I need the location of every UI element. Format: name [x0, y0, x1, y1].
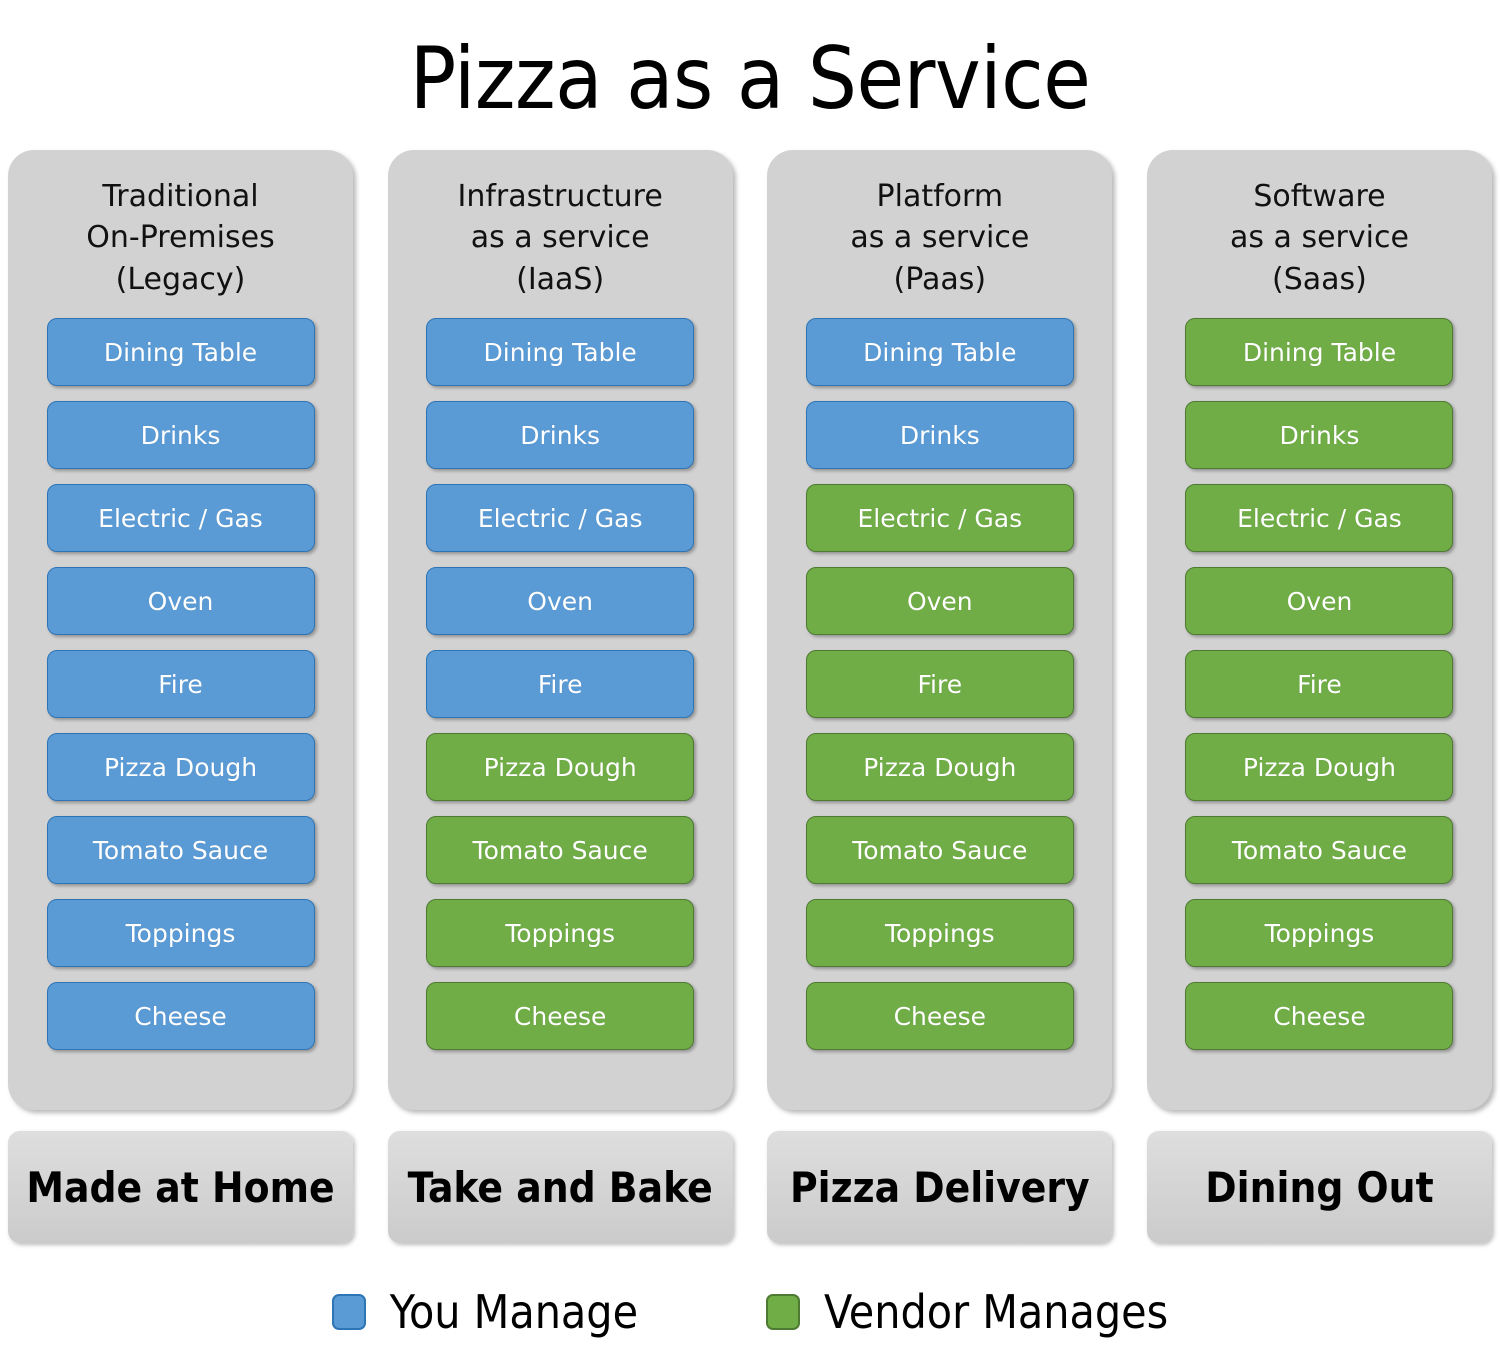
layer-pill[interactable]: Cheese — [806, 982, 1074, 1050]
layer-pill[interactable]: Fire — [47, 650, 315, 718]
legend-item-vendor: Vendor Manages — [766, 1285, 1168, 1339]
legend-item-you: You Manage — [332, 1285, 638, 1339]
layer-pill[interactable]: Drinks — [47, 401, 315, 469]
layer-pill[interactable]: Pizza Dough — [426, 733, 694, 801]
layer-pill[interactable]: Oven — [806, 567, 1074, 635]
layer-pill[interactable]: Toppings — [1185, 899, 1453, 967]
column-header: Platformas a service(Paas) — [767, 176, 1112, 316]
layer-pill[interactable]: Oven — [47, 567, 315, 635]
layer-pill[interactable]: Electric / Gas — [806, 484, 1074, 552]
layer-pill[interactable]: Oven — [1185, 567, 1453, 635]
service-column-1: TraditionalOn-Premises(Legacy)Dining Tab… — [8, 150, 353, 1110]
footer-analogy-4: Dining Out — [1147, 1131, 1492, 1243]
layer-pill[interactable]: Oven — [426, 567, 694, 635]
layer-pill[interactable]: Tomato Sauce — [47, 816, 315, 884]
layer-pill[interactable]: Dining Table — [806, 318, 1074, 386]
layer-pill[interactable]: Dining Table — [1185, 318, 1453, 386]
service-column-3: Platformas a service(Paas)Dining TableDr… — [767, 150, 1112, 1110]
layer-pill[interactable]: Dining Table — [426, 318, 694, 386]
column-header: TraditionalOn-Premises(Legacy) — [8, 176, 353, 316]
layer-stack: Dining TableDrinksElectric / GasOvenFire… — [47, 318, 315, 1050]
layer-pill[interactable]: Electric / Gas — [47, 484, 315, 552]
layer-stack: Dining TableDrinksElectric / GasOvenFire… — [806, 318, 1074, 1050]
layer-pill[interactable]: Pizza Dough — [47, 733, 315, 801]
layer-pill[interactable]: Tomato Sauce — [426, 816, 694, 884]
layer-pill[interactable]: Tomato Sauce — [1185, 816, 1453, 884]
column-header-line: (IaaS) — [388, 259, 733, 300]
column-header-line: Traditional — [8, 176, 353, 217]
footer-analogy-2: Take and Bake — [388, 1131, 733, 1243]
column-header: Softwareas a service(Saas) — [1147, 176, 1492, 316]
layer-pill[interactable]: Toppings — [47, 899, 315, 967]
layer-pill[interactable]: Drinks — [806, 401, 1074, 469]
layer-pill[interactable]: Electric / Gas — [1185, 484, 1453, 552]
column-header-line: as a service — [388, 217, 733, 258]
layer-pill[interactable]: Pizza Dough — [1185, 733, 1453, 801]
column-header-line: Infrastructure — [388, 176, 733, 217]
legend: You ManageVendor Manages — [0, 1285, 1500, 1339]
footer-analogy-1: Made at Home — [8, 1131, 353, 1243]
layer-pill[interactable]: Dining Table — [47, 318, 315, 386]
column-header-line: Software — [1147, 176, 1492, 217]
column-header: Infrastructureas a service(IaaS) — [388, 176, 733, 316]
service-column-4: Softwareas a service(Saas)Dining TableDr… — [1147, 150, 1492, 1110]
page-title: Pizza as a Service — [0, 36, 1500, 122]
layer-pill[interactable]: Electric / Gas — [426, 484, 694, 552]
column-header-line: Platform — [767, 176, 1112, 217]
column-header-line: as a service — [767, 217, 1112, 258]
layer-pill[interactable]: Fire — [426, 650, 694, 718]
layer-pill[interactable]: Cheese — [426, 982, 694, 1050]
layer-pill[interactable]: Toppings — [426, 899, 694, 967]
layer-pill[interactable]: Drinks — [426, 401, 694, 469]
service-model-columns: TraditionalOn-Premises(Legacy)Dining Tab… — [8, 150, 1492, 1110]
legend-label: Vendor Manages — [824, 1285, 1168, 1339]
layer-stack: Dining TableDrinksElectric / GasOvenFire… — [1185, 318, 1453, 1050]
legend-swatch-icon — [766, 1294, 800, 1330]
footer-analogy-row: Made at HomeTake and BakePizza DeliveryD… — [8, 1131, 1492, 1243]
layer-pill[interactable]: Toppings — [806, 899, 1074, 967]
legend-label: You Manage — [390, 1285, 638, 1339]
legend-swatch-icon — [332, 1294, 366, 1330]
column-header-line: as a service — [1147, 217, 1492, 258]
layer-pill[interactable]: Cheese — [47, 982, 315, 1050]
column-header-line: (Legacy) — [8, 259, 353, 300]
layer-pill[interactable]: Cheese — [1185, 982, 1453, 1050]
column-header-line: On-Premises — [8, 217, 353, 258]
layer-pill[interactable]: Fire — [1185, 650, 1453, 718]
column-header-line: (Paas) — [767, 259, 1112, 300]
footer-analogy-3: Pizza Delivery — [767, 1131, 1112, 1243]
service-column-2: Infrastructureas a service(IaaS)Dining T… — [388, 150, 733, 1110]
layer-stack: Dining TableDrinksElectric / GasOvenFire… — [426, 318, 694, 1050]
layer-pill[interactable]: Pizza Dough — [806, 733, 1074, 801]
layer-pill[interactable]: Drinks — [1185, 401, 1453, 469]
layer-pill[interactable]: Fire — [806, 650, 1074, 718]
layer-pill[interactable]: Tomato Sauce — [806, 816, 1074, 884]
column-header-line: (Saas) — [1147, 259, 1492, 300]
